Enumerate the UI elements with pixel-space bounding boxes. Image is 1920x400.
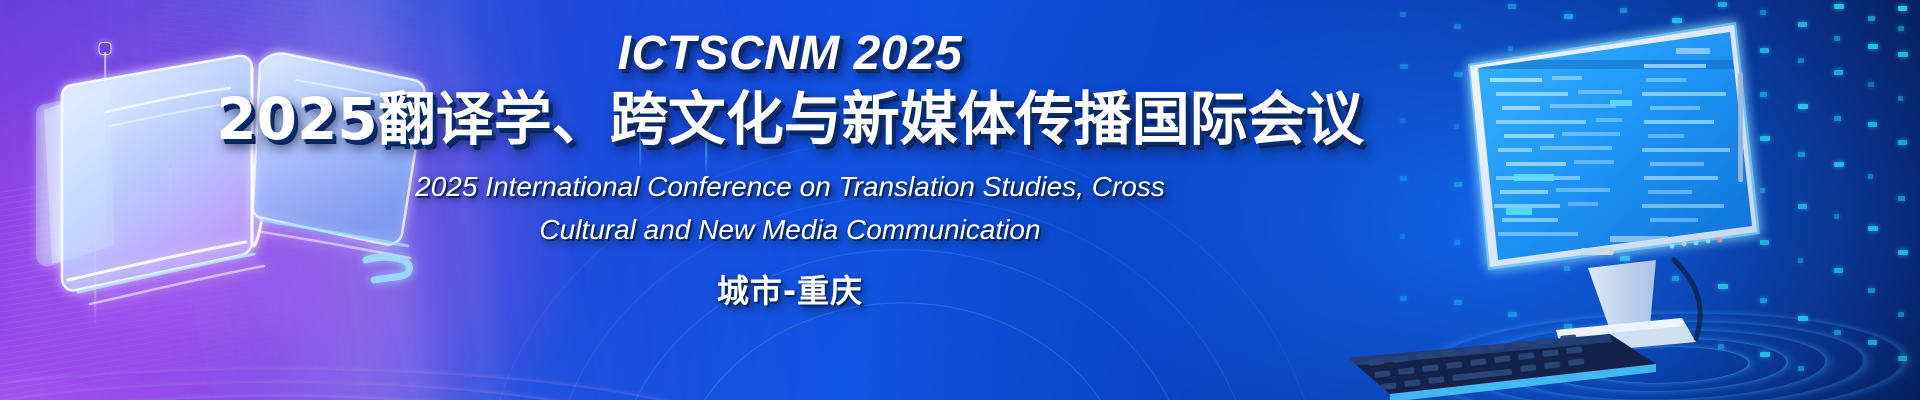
conference-acronym-title: ICTSCNM 2025 <box>618 26 963 81</box>
conference-subtitle-english: 2025 International Conference on Transla… <box>415 166 1165 251</box>
conference-banner: ICTSCNM 2025 2025翻译学、跨文化与新媒体传播国际会议 2025 … <box>0 0 1920 400</box>
conference-title-chinese: 2025翻译学、跨文化与新媒体传播国际会议 <box>216 89 1363 150</box>
subtitle-line-1: 2025 International Conference on Transla… <box>415 166 1165 209</box>
subtitle-line-2: Cultural and New Media Communication <box>415 209 1165 252</box>
desktop-monitor-icon <box>1460 8 1890 398</box>
keyboard-shape <box>1348 334 1656 400</box>
conference-city-label: 城市-重庆 <box>717 266 863 312</box>
banner-text-block: ICTSCNM 2025 2025翻译学、跨文化与新媒体传播国际会议 2025 … <box>340 0 1240 400</box>
